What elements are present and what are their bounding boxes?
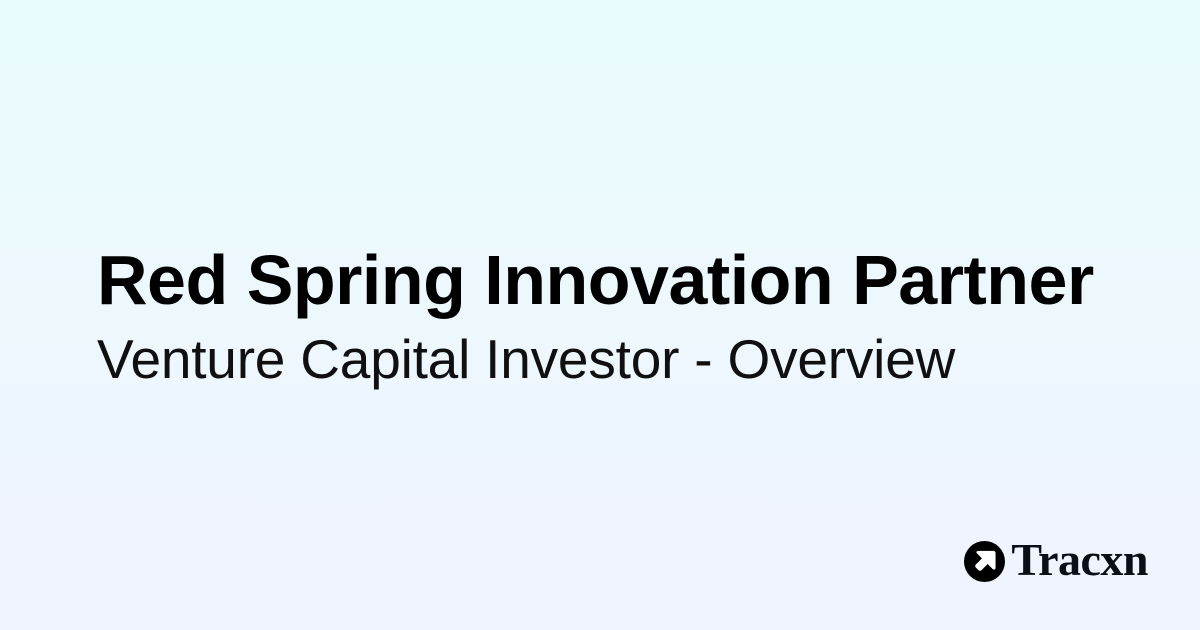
page-title: Red Spring Innovation Partner [97, 238, 1107, 322]
headline-block: Red Spring Innovation Partner Venture Ca… [97, 238, 1107, 392]
brand-logo: Tracxn [964, 538, 1148, 584]
tracxn-arrow-circle-icon [964, 541, 1005, 582]
social-share-card: Red Spring Innovation Partner Venture Ca… [0, 0, 1200, 630]
brand-wordmark: Tracxn [1011, 537, 1148, 583]
page-subtitle: Venture Capital Investor - Overview [97, 326, 1107, 392]
